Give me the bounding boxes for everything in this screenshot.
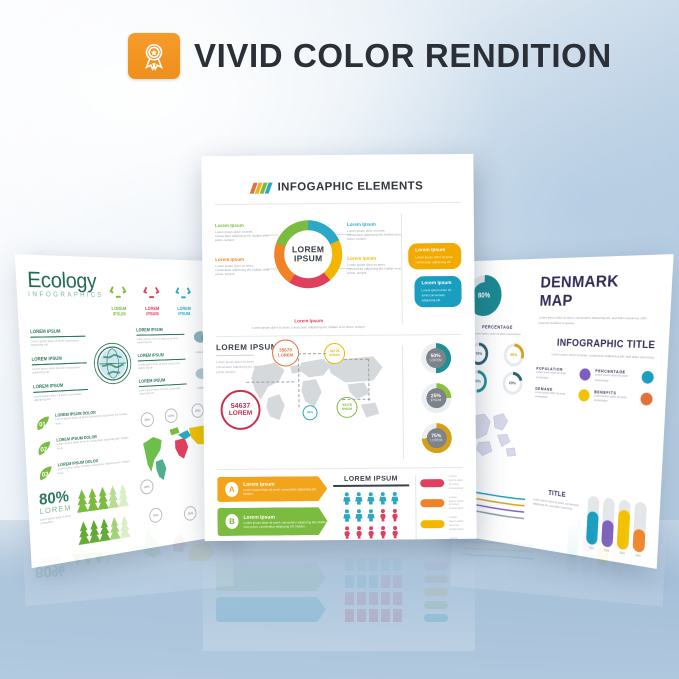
map-percent: 60% bbox=[164, 408, 177, 424]
globe-label: LOREM IPSUM Lorem ipsum dolor sit amet c… bbox=[139, 376, 187, 397]
person-icon bbox=[379, 491, 388, 504]
person-icon bbox=[343, 526, 352, 539]
person-icon bbox=[367, 509, 376, 522]
side-pill-body: Lorem ipsum dolor sit amet consectetur a… bbox=[421, 288, 454, 302]
denmark-subtitle: INFOGRAPHIC TITLE bbox=[537, 336, 655, 350]
arrow-body: Lorem ipsum dolor sit amet, consectetur … bbox=[243, 487, 327, 496]
tube-bar-label: 70% bbox=[586, 546, 597, 551]
tube-bar bbox=[617, 499, 631, 550]
globe-label-body: Lorem ipsum dolor sit amet consectetur a… bbox=[137, 337, 185, 346]
center-poster-header: INFOGAPHIC ELEMENTS bbox=[215, 180, 461, 194]
wheel-center-line2: IPSUM bbox=[294, 254, 322, 263]
list-pill-text: Lorem ipsum dolor sit amet, consectetur bbox=[449, 496, 464, 512]
callout-heading: Lorem Ipsum bbox=[216, 317, 402, 324]
percent-donut-inner: 75% LOREM bbox=[426, 428, 446, 448]
list-pill-text: Lorem ipsum dolor sit amet, consectetur bbox=[449, 475, 464, 491]
dot-item-body: Lorem ipsum dolor sit amet consectetur bbox=[535, 390, 574, 401]
percent-ring: 30% bbox=[503, 343, 524, 367]
leaf-icon: 03 bbox=[37, 464, 54, 484]
recycle-badge: LOREM IPSUM bbox=[169, 281, 197, 317]
poster-infographic-elements[interactable]: INFOGAPHIC ELEMENTS LOREM IPSUM Lorem bbox=[201, 154, 476, 541]
tube-bar-label: 80% bbox=[616, 551, 628, 556]
percent-donut: 50% LOREM bbox=[420, 343, 450, 373]
map-percent: 20% bbox=[140, 478, 154, 494]
wheel-center-text: LOREM IPSUM bbox=[274, 220, 343, 289]
svg-text:03: 03 bbox=[42, 472, 49, 480]
callout-heading: Lorem Ipsum bbox=[347, 255, 401, 260]
arrow-banner[interactable]: A Lorem Ipsum Lorem ipsum dolor sit amet… bbox=[217, 476, 327, 502]
dot-marker bbox=[640, 392, 653, 405]
dot-item: DEMAND Lorem ipsum dolor sit amet consec… bbox=[535, 386, 589, 402]
people-row bbox=[334, 525, 410, 539]
marker-number: 46% bbox=[307, 411, 313, 414]
list-pill-item[interactable]: Lorem ipsum dolor sit amet, consectetur bbox=[420, 496, 464, 512]
marker-label: LOREM bbox=[229, 410, 253, 417]
globe-label: LOREM IPSUM Lorem ipsum dolor sit amet c… bbox=[137, 352, 186, 372]
tube-chart-bars: 70% 55% 80% 45% bbox=[586, 495, 647, 558]
person-icon bbox=[355, 509, 364, 522]
callout-heading: Lorem Ipsum bbox=[347, 221, 401, 226]
poster-denmark-map[interactable]: 80% PERCENTAGE Lorem ipsum dolor sit ame… bbox=[446, 254, 674, 569]
side-pill-body: Lorem ipsum dolor sit amet consectetur a… bbox=[415, 255, 454, 265]
page-title: VIVID COLOR RENDITION bbox=[194, 37, 612, 75]
svg-text:01: 01 bbox=[39, 422, 46, 429]
arrow-key: A bbox=[225, 482, 238, 497]
svg-text:02: 02 bbox=[40, 447, 47, 455]
dot-item: BENEFITS Lorem ipsum dolor sit amet cons… bbox=[594, 390, 653, 407]
globe-icon bbox=[90, 327, 135, 399]
center-poster-title: INFOGAPHIC ELEMENTS bbox=[277, 180, 423, 193]
globe-label-heading: LOREM IPSUM bbox=[137, 352, 185, 359]
person-icon bbox=[379, 525, 388, 538]
recycle-badge-label2: IPSUM bbox=[171, 312, 198, 317]
recycle-icon bbox=[174, 281, 193, 302]
map-percent: 70% bbox=[149, 508, 163, 525]
globe-label-body: Lorem ipsum dolor sit amet consectetur a… bbox=[33, 392, 88, 404]
people-pictogram-chart: LOREM IPSUM bbox=[333, 475, 409, 541]
percentage-heading: PERCENTAGE bbox=[465, 324, 531, 330]
list-pill-swatch bbox=[420, 500, 444, 508]
ecology-title: Ecology bbox=[27, 269, 104, 295]
tube-bar-label: 55% bbox=[601, 548, 613, 553]
dot-item-body: Lorem ipsum dolor sit amet consectetur bbox=[536, 371, 575, 382]
arrow-banner[interactable]: B Lorem Ipsum Lorem ipsum dolor sit amet… bbox=[217, 507, 327, 536]
marker-label: IPSUM bbox=[329, 354, 339, 357]
tree-pictogram bbox=[76, 481, 136, 557]
list-pill-item[interactable]: Lorem ipsum dolor sit amet, consectetur bbox=[420, 516, 464, 532]
tube-bar bbox=[601, 497, 615, 547]
people-chart-heading: LOREM IPSUM bbox=[333, 475, 409, 483]
percent-ring: 20% bbox=[502, 371, 523, 395]
person-icon bbox=[379, 508, 388, 521]
tube-bar bbox=[633, 501, 647, 553]
leaf-item: 01 LOREM IPSUM DOLOR Lorem ipsum dolor s… bbox=[35, 408, 130, 433]
person-icon bbox=[343, 509, 352, 522]
denmark-title: DENMARK MAP bbox=[539, 271, 659, 310]
tube-bar-label: 45% bbox=[632, 553, 644, 558]
side-pill-heading: Lorem Ipsum bbox=[421, 281, 454, 286]
globe-label: LOREM IPSUM Lorem ipsum dolor sit amet c… bbox=[30, 328, 86, 348]
award-ribbon-icon bbox=[128, 33, 180, 79]
globe-label-body: Lorem ipsum dolor sit amet consectetur a… bbox=[32, 365, 87, 376]
dot-item-body: Lorem ipsum dolor sit amet consectetur bbox=[595, 374, 638, 385]
callout-heading: Lorem Ipsum bbox=[215, 257, 269, 262]
callout-body: Lorem ipsum dolor sit amet, consectetur … bbox=[347, 262, 401, 276]
dot-marker bbox=[578, 389, 590, 402]
wheel-callout: Lorem Ipsum Lorem ipsum dolor sit amet, … bbox=[216, 317, 402, 330]
leaf-item: 03 LOREM IPSUM DOLOR Lorem ipsum dolor s… bbox=[37, 456, 132, 484]
percent-donut-inner: 25% IPSUM bbox=[426, 388, 446, 408]
person-icon bbox=[343, 492, 352, 505]
denmark-title-body: Lorem ipsum dolor sit amet, consectetur … bbox=[538, 315, 656, 327]
globe-label-body: Lorem ipsum dolor sit amet consectetur a… bbox=[139, 386, 187, 397]
header-banner: VIVID COLOR RENDITION bbox=[128, 33, 612, 79]
list-pill-text: Lorem ipsum dolor sit amet, consectetur bbox=[449, 516, 464, 532]
percent-donut: 75% LOREM bbox=[421, 423, 451, 453]
tube-chart-body: Lorem ipsum dolor sit amet, consectetur … bbox=[533, 498, 581, 514]
list-pill-item[interactable]: Lorem ipsum dolor sit amet, consectetur bbox=[420, 475, 464, 491]
recycle-badge-label2: IPSUM bbox=[138, 312, 166, 317]
dot-item: PERCENTAGE Lorem ipsum dolor sit amet co… bbox=[595, 369, 654, 386]
percent-label: IPSUM bbox=[431, 399, 442, 403]
callout-heading: Lorem Ipsum bbox=[215, 223, 269, 228]
list-pill-group: Lorem ipsum dolor sit amet, consectetur … bbox=[415, 475, 464, 541]
dot-marker bbox=[641, 371, 654, 384]
callout-body: Lorem ipsum dolor sit amet, consectetur … bbox=[215, 229, 269, 243]
world-map-section: 54637 LOREM 35678 LOREM 32178 IPSUM 3317… bbox=[216, 337, 403, 437]
arrow-body: Lorem ipsum dolor sit amet, consectetur … bbox=[244, 520, 328, 529]
wheel-callout: Lorem Ipsum Lorem ipsum dolor sit amet, … bbox=[215, 223, 269, 243]
person-icon bbox=[355, 526, 364, 539]
list-pill-swatch bbox=[420, 520, 444, 528]
globe-label-heading: LOREM IPSUM bbox=[31, 355, 86, 362]
people-row bbox=[333, 508, 409, 522]
globe-label: LOREM IPSUM Lorem ipsum dolor sit amet c… bbox=[31, 355, 87, 376]
leaf-item: 02 LOREM IPSUM DOLOR Lorem ipsum dolor s… bbox=[36, 432, 131, 458]
recycle-badge-label2: IPSUM bbox=[104, 312, 133, 317]
percent-label: LOREM bbox=[430, 439, 442, 443]
person-icon bbox=[391, 508, 400, 521]
big-stat-body: Lorem ipsum dolor sit amet consectetur bbox=[40, 514, 72, 526]
wheel-callout: Lorem Ipsum Lorem ipsum dolor sit amet, … bbox=[347, 255, 401, 275]
marker-label: IPSUM bbox=[342, 408, 352, 411]
logo-stripes-icon bbox=[250, 182, 272, 193]
list-pill-swatch bbox=[420, 479, 444, 487]
recycle-badge: LOREM IPSUM bbox=[103, 279, 134, 317]
tube-bar bbox=[586, 495, 600, 545]
person-icon bbox=[367, 492, 376, 505]
denmark-subtitle-body: Lorem ipsum dolor sit amet, consectetur … bbox=[537, 351, 655, 360]
person-icon bbox=[391, 491, 400, 504]
person-icon bbox=[391, 525, 400, 538]
leaf-icon: 01 bbox=[35, 414, 52, 433]
circular-process-chart: LOREM IPSUM Lorem Ipsum Lorem ipsum dolo… bbox=[215, 215, 402, 313]
people-row bbox=[333, 491, 409, 505]
arrow-banner-list: A Lorem Ipsum Lorem ipsum dolor sit amet… bbox=[217, 476, 328, 541]
globe-label: LOREM IPSUM Lorem ipsum dolor sit amet c… bbox=[136, 327, 185, 346]
percent-donut-inner: 50% LOREM bbox=[426, 348, 446, 368]
side-pill[interactable]: Lorem Ipsum Lorem ipsum dolor sit amet c… bbox=[408, 243, 461, 270]
recycle-icon bbox=[108, 279, 129, 301]
leaf-icon: 02 bbox=[36, 439, 53, 459]
dot-item: POPULATION Lorem ipsum dolor sit amet co… bbox=[536, 367, 591, 383]
callout-body: Lorem ipsum dolor sit amet, consectetur … bbox=[347, 228, 401, 242]
recycle-badge: LOREM IPSUM bbox=[137, 280, 167, 317]
percent-donut: 25% IPSUM bbox=[421, 383, 451, 413]
person-icon bbox=[367, 526, 376, 539]
ecology-subtitle: INFOGRAPHICS bbox=[28, 292, 104, 299]
globe-label-heading: LOREM IPSUM bbox=[30, 328, 85, 335]
callout-body: Lorem ipsum dolor sit amet, consectetur … bbox=[215, 263, 269, 277]
globe-label-body: Lorem ipsum dolor sit amet consectetur a… bbox=[31, 339, 86, 349]
callout-body: Lorem ipsum dolor sit amet, consectetur … bbox=[216, 324, 402, 330]
wheel-callout: Lorem Ipsum Lorem ipsum dolor sit amet, … bbox=[347, 221, 401, 241]
dot-marker bbox=[579, 369, 591, 382]
globe-label-heading: LOREM IPSUM bbox=[136, 327, 184, 333]
side-pill[interactable]: Lorem Ipsum Lorem ipsum dolor sit amet c… bbox=[414, 276, 461, 307]
map-percent: 50% bbox=[140, 412, 154, 428]
wheel-callout: Lorem Ipsum Lorem ipsum dolor sit amet, … bbox=[215, 257, 269, 277]
globe-label: LOREM IPSUM Lorem ipsum dolor sit amet c… bbox=[33, 381, 89, 403]
recycle-icon bbox=[141, 280, 161, 301]
marker-label: LOREM bbox=[278, 353, 293, 358]
globe-label-body: Lorem ipsum dolor sit amet consectetur a… bbox=[138, 361, 186, 371]
percent-label: LOREM bbox=[430, 359, 442, 363]
map-percent: 30% bbox=[191, 403, 204, 418]
person-icon bbox=[355, 492, 364, 505]
dot-item-body: Lorem ipsum dolor sit amet consectetur bbox=[594, 394, 637, 406]
map-percent: 35% bbox=[184, 505, 197, 521]
side-pill-heading: Lorem Ipsum bbox=[415, 248, 454, 253]
